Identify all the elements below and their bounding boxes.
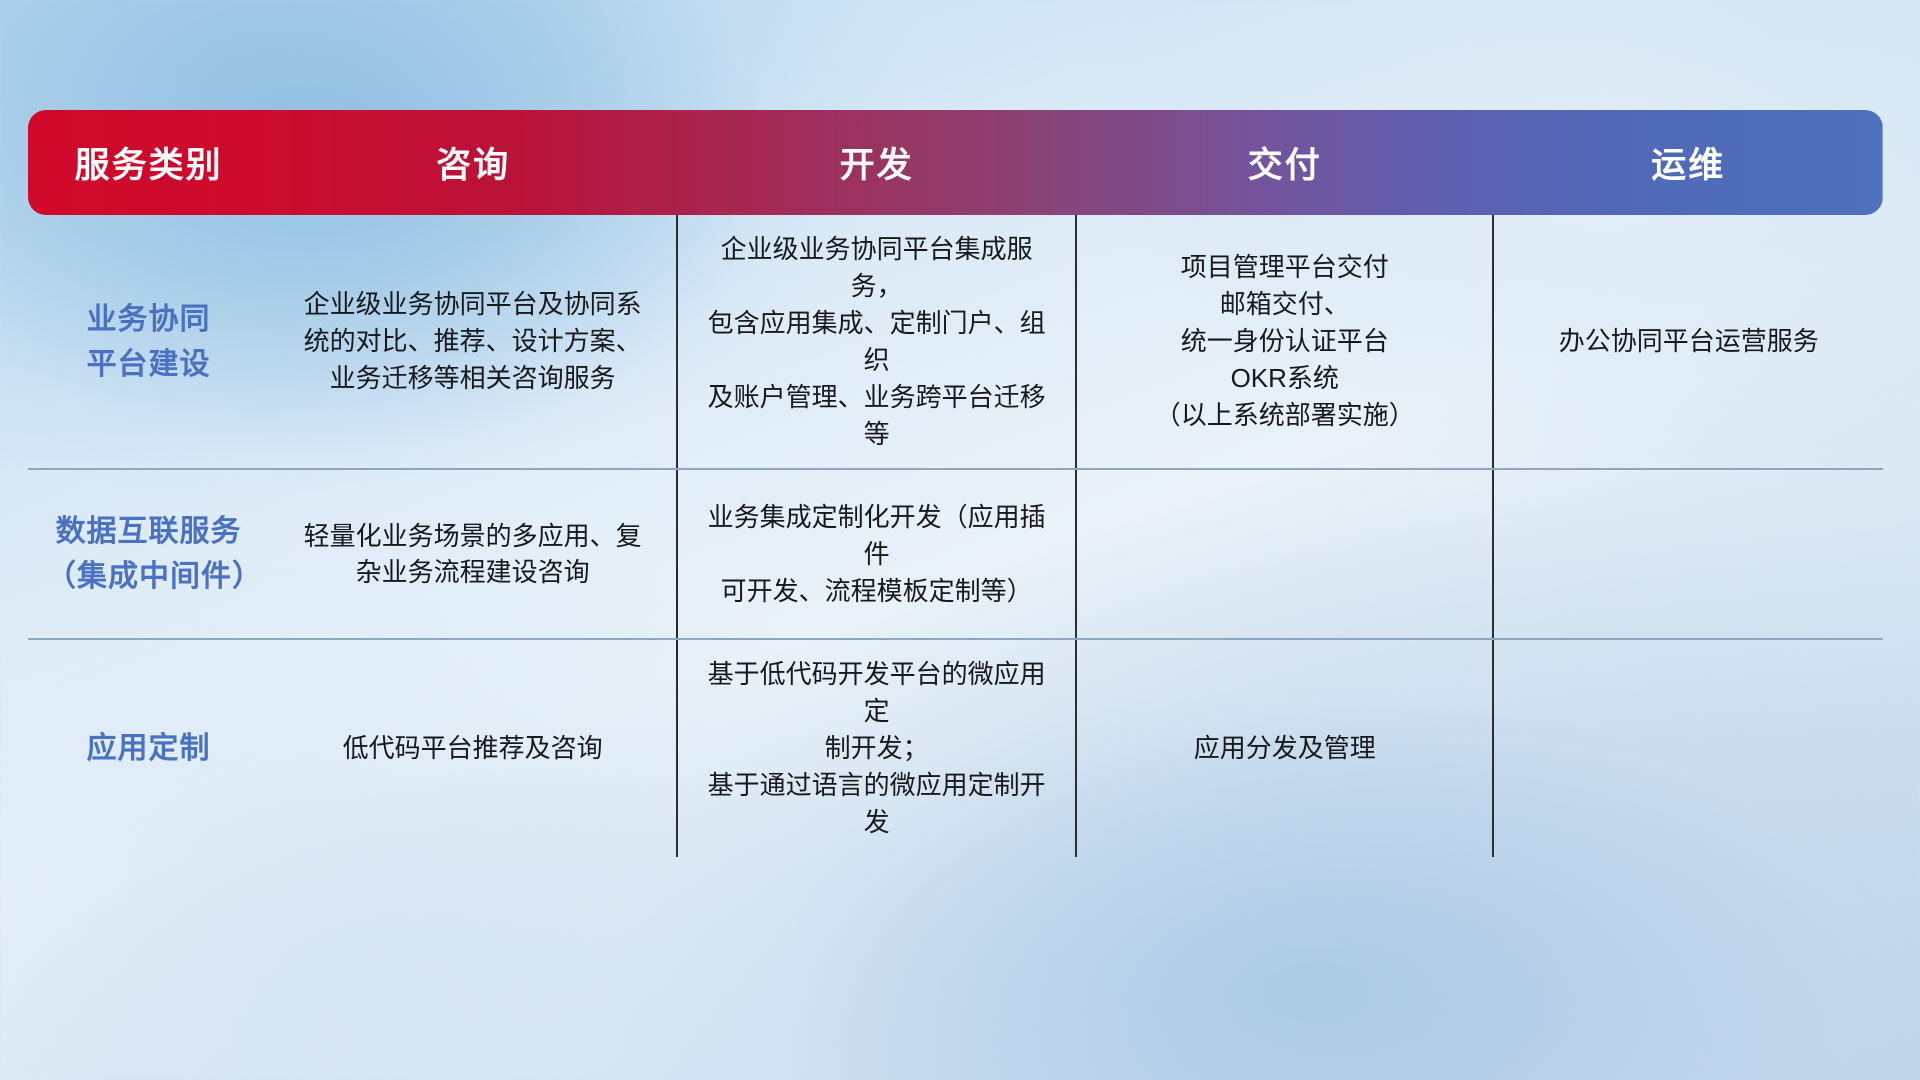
table-header: 服务类别 咨询 开发 交付 运维 (28, 110, 1883, 215)
cell-consulting-2: 低代码平台推荐及咨询 (269, 639, 677, 857)
cell-text: 轻量化业务场景的多应用、复 杂业务流程建设咨询 (287, 518, 658, 592)
cell-operations-1 (1493, 469, 1883, 639)
cell-operations-0: 办公协同平台运营服务 (1493, 215, 1883, 469)
cell-development-0: 企业级业务协同平台集成服务， 包含应用集成、定制门户、组织 及账户管理、业务跨平… (677, 215, 1076, 469)
cell-development-2: 基于低代码开发平台的微应用定 制开发； 基于通过语言的微应用定制开发 (677, 639, 1076, 857)
cell-text: 应用分发及管理 (1095, 730, 1474, 767)
service-matrix-table: 服务类别 咨询 开发 交付 运维 业务协同 平台建设 企业级业务协同平台及协同系… (28, 110, 1883, 857)
cell-text: 项目管理平台交付 邮箱交付、 统一身份认证平台 OKR系统 （以上系统部署实施） (1095, 249, 1474, 434)
cell-development-1: 业务集成定制化开发（应用插件 可开发、流程模板定制等） (677, 469, 1076, 639)
cell-operations-2 (1493, 639, 1883, 857)
column-header-development: 开发 (677, 110, 1076, 215)
cell-delivery-1 (1076, 469, 1493, 639)
cell-consulting-1: 轻量化业务场景的多应用、复 杂业务流程建设咨询 (269, 469, 677, 639)
cell-delivery-0: 项目管理平台交付 邮箱交付、 统一身份认证平台 OKR系统 （以上系统部署实施） (1076, 215, 1493, 469)
cell-category-0: 业务协同 平台建设 (28, 215, 269, 469)
table-row: 数据互联服务 （集成中间件） 轻量化业务场景的多应用、复 杂业务流程建设咨询 业… (28, 469, 1883, 639)
column-header-delivery: 交付 (1076, 110, 1493, 215)
cell-text: 低代码平台推荐及咨询 (287, 730, 658, 767)
cell-text: 基于低代码开发平台的微应用定 制开发； 基于通过语言的微应用定制开发 (696, 656, 1057, 841)
cell-consulting-0: 企业级业务协同平台及协同系 统的对比、推荐、设计方案、 业务迁移等相关咨询服务 (269, 215, 677, 469)
cell-text: 应用定制 (46, 726, 251, 771)
cell-text: 企业级业务协同平台集成服务， 包含应用集成、定制门户、组织 及账户管理、业务跨平… (696, 231, 1057, 452)
cell-category-1: 数据互联服务 （集成中间件） (28, 469, 269, 639)
table-body: 业务协同 平台建设 企业级业务协同平台及协同系 统的对比、推荐、设计方案、 业务… (28, 215, 1883, 857)
column-header-operations: 运维 (1493, 110, 1883, 215)
cell-text: 办公协同平台运营服务 (1512, 323, 1865, 360)
column-header-category: 服务类别 (28, 110, 269, 215)
cell-text: 业务协同 平台建设 (46, 297, 251, 387)
cell-text: 业务集成定制化开发（应用插件 可开发、流程模板定制等） (696, 499, 1057, 610)
table-row: 应用定制 低代码平台推荐及咨询 基于低代码开发平台的微应用定 制开发； 基于通过… (28, 639, 1883, 857)
table-row: 业务协同 平台建设 企业级业务协同平台及协同系 统的对比、推荐、设计方案、 业务… (28, 215, 1883, 469)
cell-category-2: 应用定制 (28, 639, 269, 857)
cell-text: 企业级业务协同平台及协同系 统的对比、推荐、设计方案、 业务迁移等相关咨询服务 (287, 286, 658, 397)
cell-delivery-2: 应用分发及管理 (1076, 639, 1493, 857)
table-header-row: 服务类别 咨询 开发 交付 运维 (28, 110, 1883, 215)
service-matrix-container: 服务类别 咨询 开发 交付 运维 业务协同 平台建设 企业级业务协同平台及协同系… (28, 110, 1883, 857)
column-header-consulting: 咨询 (269, 110, 677, 215)
cell-text: 数据互联服务 （集成中间件） (46, 509, 251, 599)
